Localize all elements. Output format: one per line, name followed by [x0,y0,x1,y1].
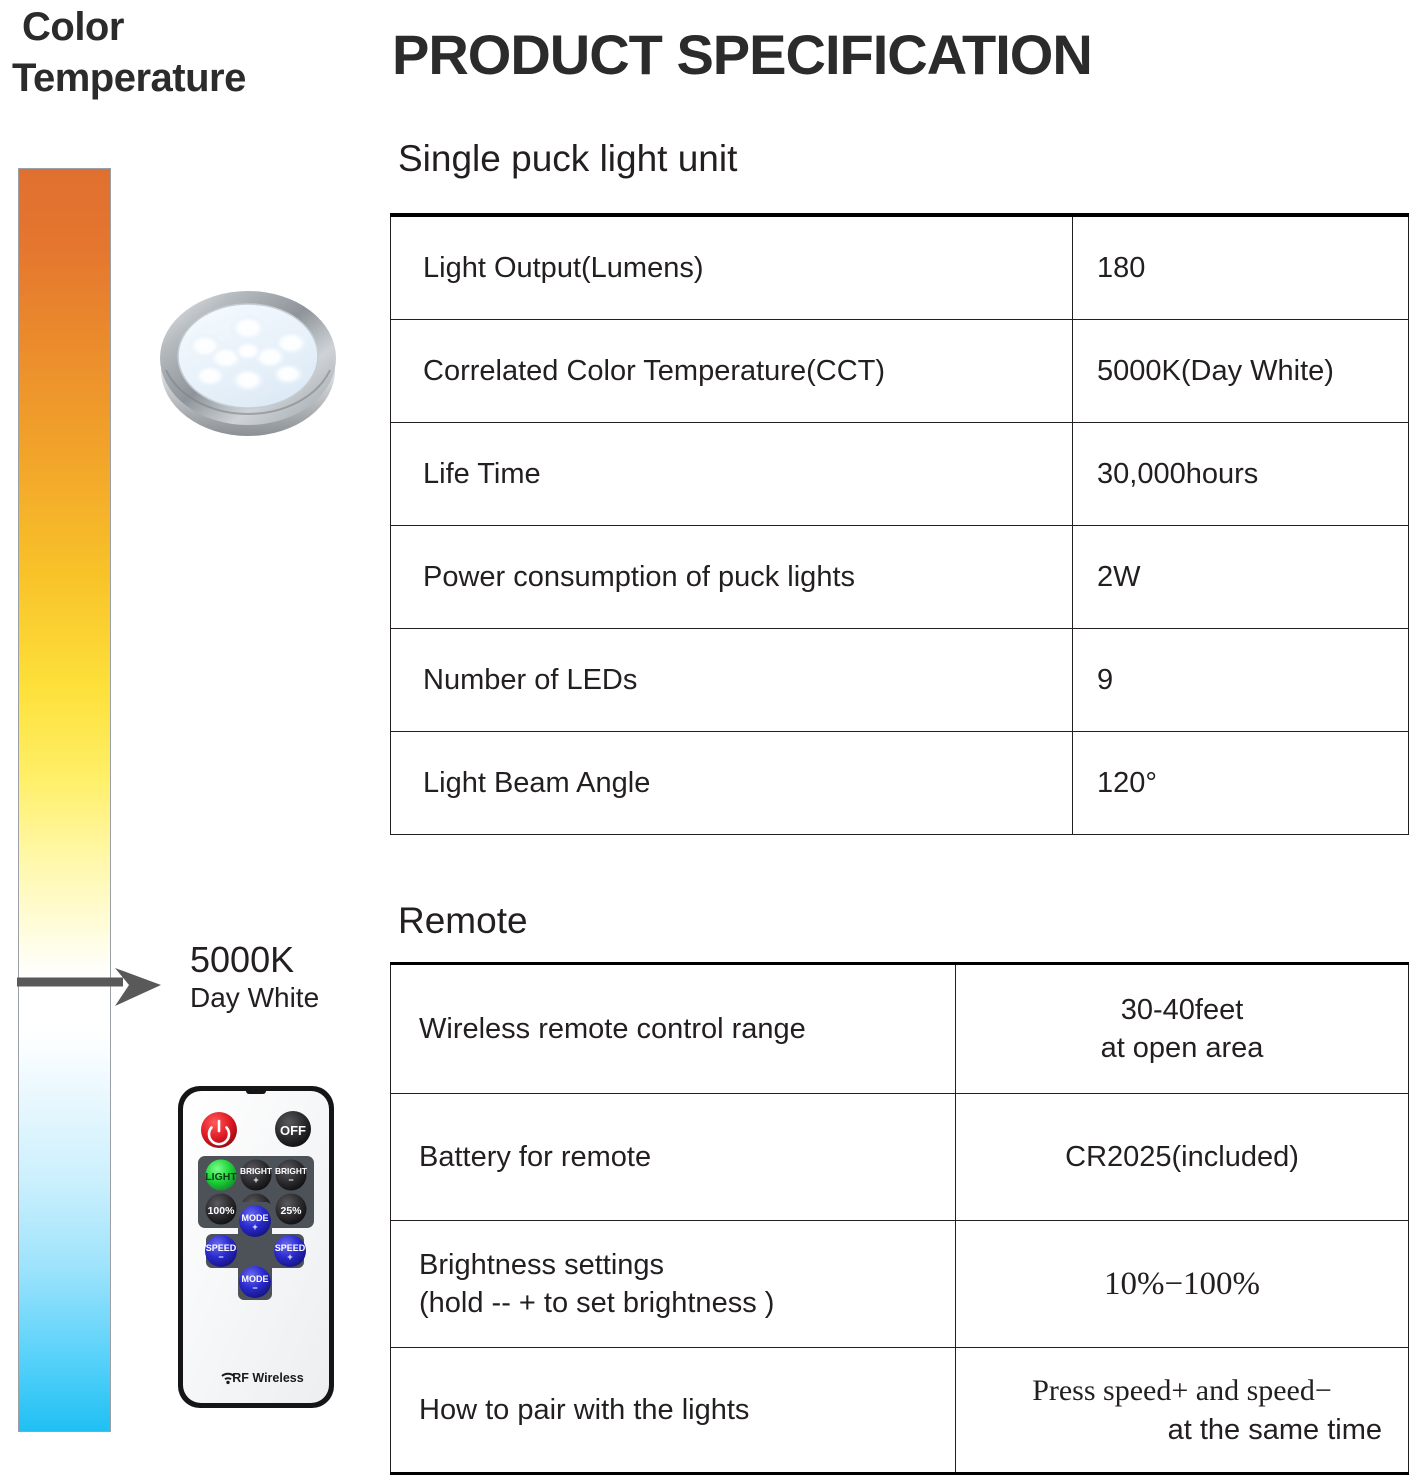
table-row: How to pair with the lights Press speed+… [391,1348,1409,1474]
spec-label-line2: (hold -- + to set brightness ) [419,1284,955,1322]
color-temperature-title: Color Temperature [8,2,348,104]
spec-label: Power consumption of puck lights [391,526,1073,629]
remote-spec-table: Wireless remote control range 30-40feet … [390,962,1409,1475]
table-row: Power consumption of puck lights 2W [391,526,1409,629]
table-row: Number of LEDs 9 [391,629,1409,732]
spec-label: Light Output(Lumens) [391,215,1073,320]
spec-value: 180 [1073,215,1409,320]
spec-value: 30,000hours [1073,423,1409,526]
svg-text:25%: 25% [280,1205,302,1217]
spec-label: Correlated Color Temperature(CCT) [391,320,1073,423]
svg-text:OFF: OFF [280,1123,306,1138]
spec-value-line2: at open area [956,1029,1408,1067]
spec-value: 2W [1073,526,1409,629]
table-row: Light Beam Angle 120° [391,732,1409,835]
spec-value: 10%−100% [956,1221,1409,1348]
spec-value-line1: Press speed+ and speed− [956,1371,1408,1411]
spec-label-line1: Brightness settings [419,1246,955,1284]
color-temperature-gradient-bar [18,168,111,1432]
puck-light-image [152,258,344,450]
spec-value: 30-40feet at open area [956,964,1409,1094]
color-temperature-marker-value: 5000K [190,940,390,980]
svg-text:+: + [253,1175,258,1185]
spec-label: Wireless remote control range [391,964,956,1094]
spec-value: 120° [1073,732,1409,835]
spec-label: Brightness settings (hold -- + to set br… [391,1221,956,1348]
section-heading-single-puck: Single puck light unit [398,138,737,180]
table-row: Brightness settings (hold -- + to set br… [391,1221,1409,1348]
section-heading-remote: Remote [398,900,528,942]
table-row: Wireless remote control range 30-40feet … [391,964,1409,1094]
color-temperature-marker-arrow-icon [15,966,165,1008]
color-temperature-title-line2: Temperature [8,53,348,104]
single-puck-spec-table: Light Output(Lumens) 180 Correlated Colo… [390,213,1409,835]
page-title: PRODUCT SPECIFICATION [392,22,1092,87]
spec-label: Battery for remote [391,1094,956,1221]
spec-value-line2: at the same time [956,1411,1408,1449]
color-temperature-marker-sublabel: Day White [190,982,410,1014]
spec-value-line1: 30-40feet [956,991,1408,1029]
spec-label: How to pair with the lights [391,1348,956,1474]
spec-label: Life Time [391,423,1073,526]
spec-value: 5000K(Day White) [1073,320,1409,423]
svg-text:RF Wireless: RF Wireless [232,1371,303,1385]
spec-value: 9 [1073,629,1409,732]
svg-text:−: − [288,1175,293,1185]
spec-value: Press speed+ and speed− at the same time [956,1348,1409,1474]
svg-text:+: + [252,1222,257,1232]
spec-label: Light Beam Angle [391,732,1073,835]
table-row: Correlated Color Temperature(CCT) 5000K(… [391,320,1409,423]
remote-control-image: OFF LIGHT BRIGHT + BRIGHT − 100% 50% 25%… [176,1082,336,1412]
color-temperature-title-line1: Color [8,2,348,53]
table-row: Battery for remote CR2025(included) [391,1094,1409,1221]
svg-text:+: + [287,1252,292,1262]
table-row: Life Time 30,000hours [391,423,1409,526]
svg-text:LIGHT: LIGHT [205,1171,237,1183]
table-row: Light Output(Lumens) 180 [391,215,1409,320]
spec-label: Number of LEDs [391,629,1073,732]
spec-value: CR2025(included) [956,1094,1409,1221]
svg-text:100%: 100% [208,1205,236,1217]
svg-text:−: − [252,1283,257,1293]
svg-text:−: − [218,1252,223,1262]
